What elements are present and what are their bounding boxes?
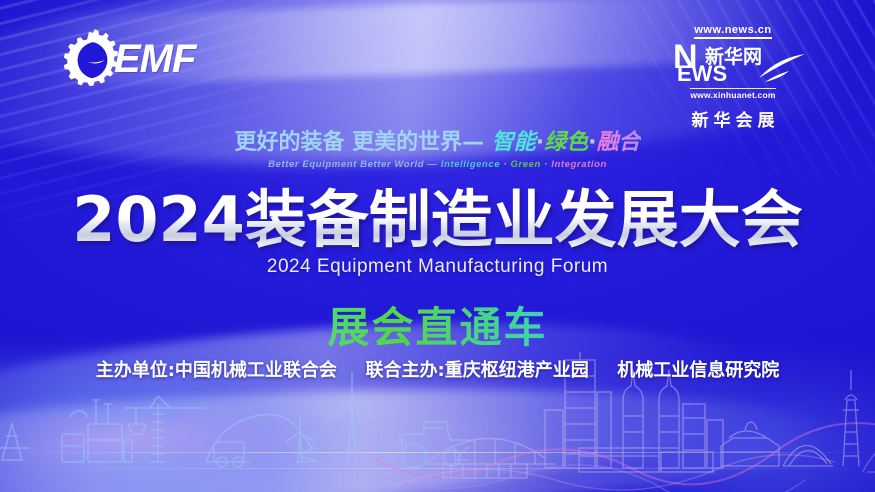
xinhua-mark: N 新华网 EWS (663, 41, 803, 85)
tagline-chinese: 更好的装备 更美的世界— 智能·绿色·融合 (0, 131, 875, 155)
tagline-en-dot1: · (503, 159, 507, 170)
xinhua-url-bottom: www.xinhuanet.com (690, 88, 775, 100)
tagline-cn-fusion: 融合 (597, 130, 641, 155)
organizer-cohost: 联合主办:重庆枢纽港产业园 (366, 360, 589, 381)
background-bottom-pink-glow (0, 402, 290, 472)
tagline-en-intelligence: Intelligence (441, 159, 500, 170)
expo-express-title: 展会直通车 (0, 294, 875, 355)
tagline-cn-dot1: · (536, 130, 544, 155)
tagline-cn-dot2: · (588, 130, 596, 155)
background-horizon-line (0, 452, 875, 453)
page-title: 2024装备制造业发展大会 (0, 186, 875, 254)
organizer-cohost-2: 机械工业信息研究院 (617, 360, 779, 381)
page-subtitle: 2024 Equipment Manufacturing Forum (0, 256, 875, 278)
organizers-line: 主办单位:中国机械工业联合会 联合主办:重庆枢纽港产业园 机械工业信息研究院 (0, 356, 875, 382)
tagline-cn-green: 绿色 (544, 130, 588, 155)
tagline-en-green: Green (510, 159, 540, 170)
tagline-cn-part1: 更好的装备 更美的世界— (234, 130, 484, 155)
tagline-cn-smart: 智能 (492, 130, 536, 155)
tagline-english: Better Equipment Better World — Intellig… (0, 159, 875, 170)
gear-swoosh-icon (58, 28, 120, 90)
xinhua-expo-label: 新华会展 (663, 106, 803, 131)
tagline-en-part1: Better Equipment Better World — (268, 159, 437, 170)
tagline-en-integration: Integration (551, 159, 607, 170)
swoosh-icon (749, 53, 807, 83)
organizer-host: 主办单位:中国机械工业联合会 (96, 360, 337, 381)
event-poster: EMF www.news.cn N 新华网 EWS www.xinhuanet.… (0, 0, 875, 492)
emf-logo[interactable]: EMF (58, 26, 186, 92)
tagline-block: 更好的装备 更美的世界— 智能·绿色·融合 Better Equipment B… (0, 131, 875, 170)
xinhua-news-logo[interactable]: www.news.cn N 新华网 EWS www.xinhuanet.com … (663, 20, 803, 131)
background-horizon-line-2 (0, 468, 875, 469)
xinhua-url-top: www.news.cn (694, 24, 771, 39)
xinhua-letters-ews: EWS (677, 63, 727, 85)
tagline-en-dot2: · (544, 159, 548, 170)
emf-wordmark: EMF (114, 39, 195, 79)
